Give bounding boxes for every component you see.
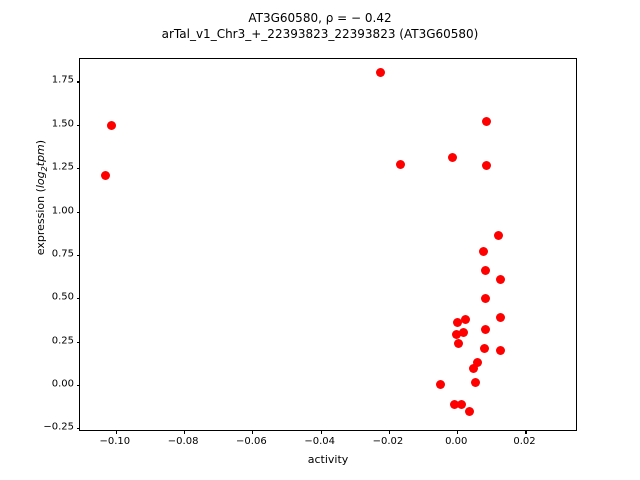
data-point: [461, 315, 470, 324]
y-axis-tick-label: 0.00: [52, 378, 79, 389]
y-axis-label-subscript: 2: [40, 166, 49, 171]
data-point: [396, 160, 405, 169]
data-point: [454, 339, 463, 348]
y-axis-tick-label: −0.25: [43, 422, 79, 433]
x-axis-label: activity: [79, 453, 577, 466]
x-axis-tick-mark: [321, 430, 322, 434]
x-axis-tick-mark: [116, 430, 117, 434]
data-point: [496, 346, 505, 355]
data-point: [480, 344, 489, 353]
data-point: [482, 161, 491, 170]
chart-title: AT3G60580, ρ = − 0.42 arTal_v1_Chr3_+_22…: [0, 10, 640, 42]
x-axis-tick-label: −0.08: [168, 436, 199, 447]
data-point: [469, 364, 478, 373]
data-point: [479, 247, 488, 256]
plot-area: [79, 58, 577, 431]
y-axis-tick-label: 0.50: [52, 292, 79, 303]
x-axis-tick-mark: [252, 430, 253, 434]
x-axis-tick-label: −0.04: [304, 436, 335, 447]
x-axis-tick-labels: −0.10−0.08−0.06−0.04−0.020.000.02: [0, 436, 640, 452]
data-point: [452, 330, 461, 339]
data-point: [457, 400, 466, 409]
x-axis-tick-label: 0.02: [513, 436, 535, 447]
y-axis-tick-label: 1.50: [52, 118, 79, 129]
scatter-plot-figure: AT3G60580, ρ = − 0.42 arTal_v1_Chr3_+_22…: [0, 0, 640, 480]
data-point: [101, 171, 110, 180]
data-point: [453, 318, 462, 327]
y-axis-tick-label: 1.25: [52, 162, 79, 173]
x-axis-tick-label: −0.02: [373, 436, 404, 447]
x-axis-tick-label: 0.00: [445, 436, 467, 447]
x-axis-tick-label: −0.06: [236, 436, 267, 447]
y-axis-label-suffix: ): [34, 140, 47, 144]
data-point: [481, 266, 490, 275]
x-axis-tick-label: −0.10: [100, 436, 131, 447]
data-point: [494, 231, 503, 240]
x-axis-tick-mark: [525, 430, 526, 434]
y-axis-tick-label: 0.25: [52, 335, 79, 346]
x-axis-tick-mark: [457, 430, 458, 434]
data-point: [376, 68, 385, 77]
data-point: [436, 380, 445, 389]
chart-title-line-1: AT3G60580, ρ = − 0.42: [0, 10, 640, 26]
y-axis-tick-label: 1.75: [52, 75, 79, 86]
data-point: [481, 325, 490, 334]
y-axis-tick-label: 0.75: [52, 248, 79, 259]
y-axis-label-tpm: tpm: [34, 144, 47, 166]
y-axis-label-prefix: expression (: [34, 188, 47, 255]
data-point: [448, 153, 457, 162]
data-point: [465, 407, 474, 416]
y-axis-tick-label: 1.00: [52, 205, 79, 216]
data-point: [496, 313, 505, 322]
x-axis-tick-mark: [389, 430, 390, 434]
y-axis-label: expression (log2tpm): [34, 11, 49, 384]
data-point: [496, 275, 505, 284]
data-point: [482, 117, 491, 126]
data-point: [481, 294, 490, 303]
data-point: [107, 121, 116, 130]
y-axis-label-log: log: [34, 171, 47, 188]
chart-title-line-2: arTal_v1_Chr3_+_22393823_22393823 (AT3G6…: [0, 26, 640, 42]
x-axis-tick-mark: [184, 430, 185, 434]
data-point: [471, 378, 480, 387]
